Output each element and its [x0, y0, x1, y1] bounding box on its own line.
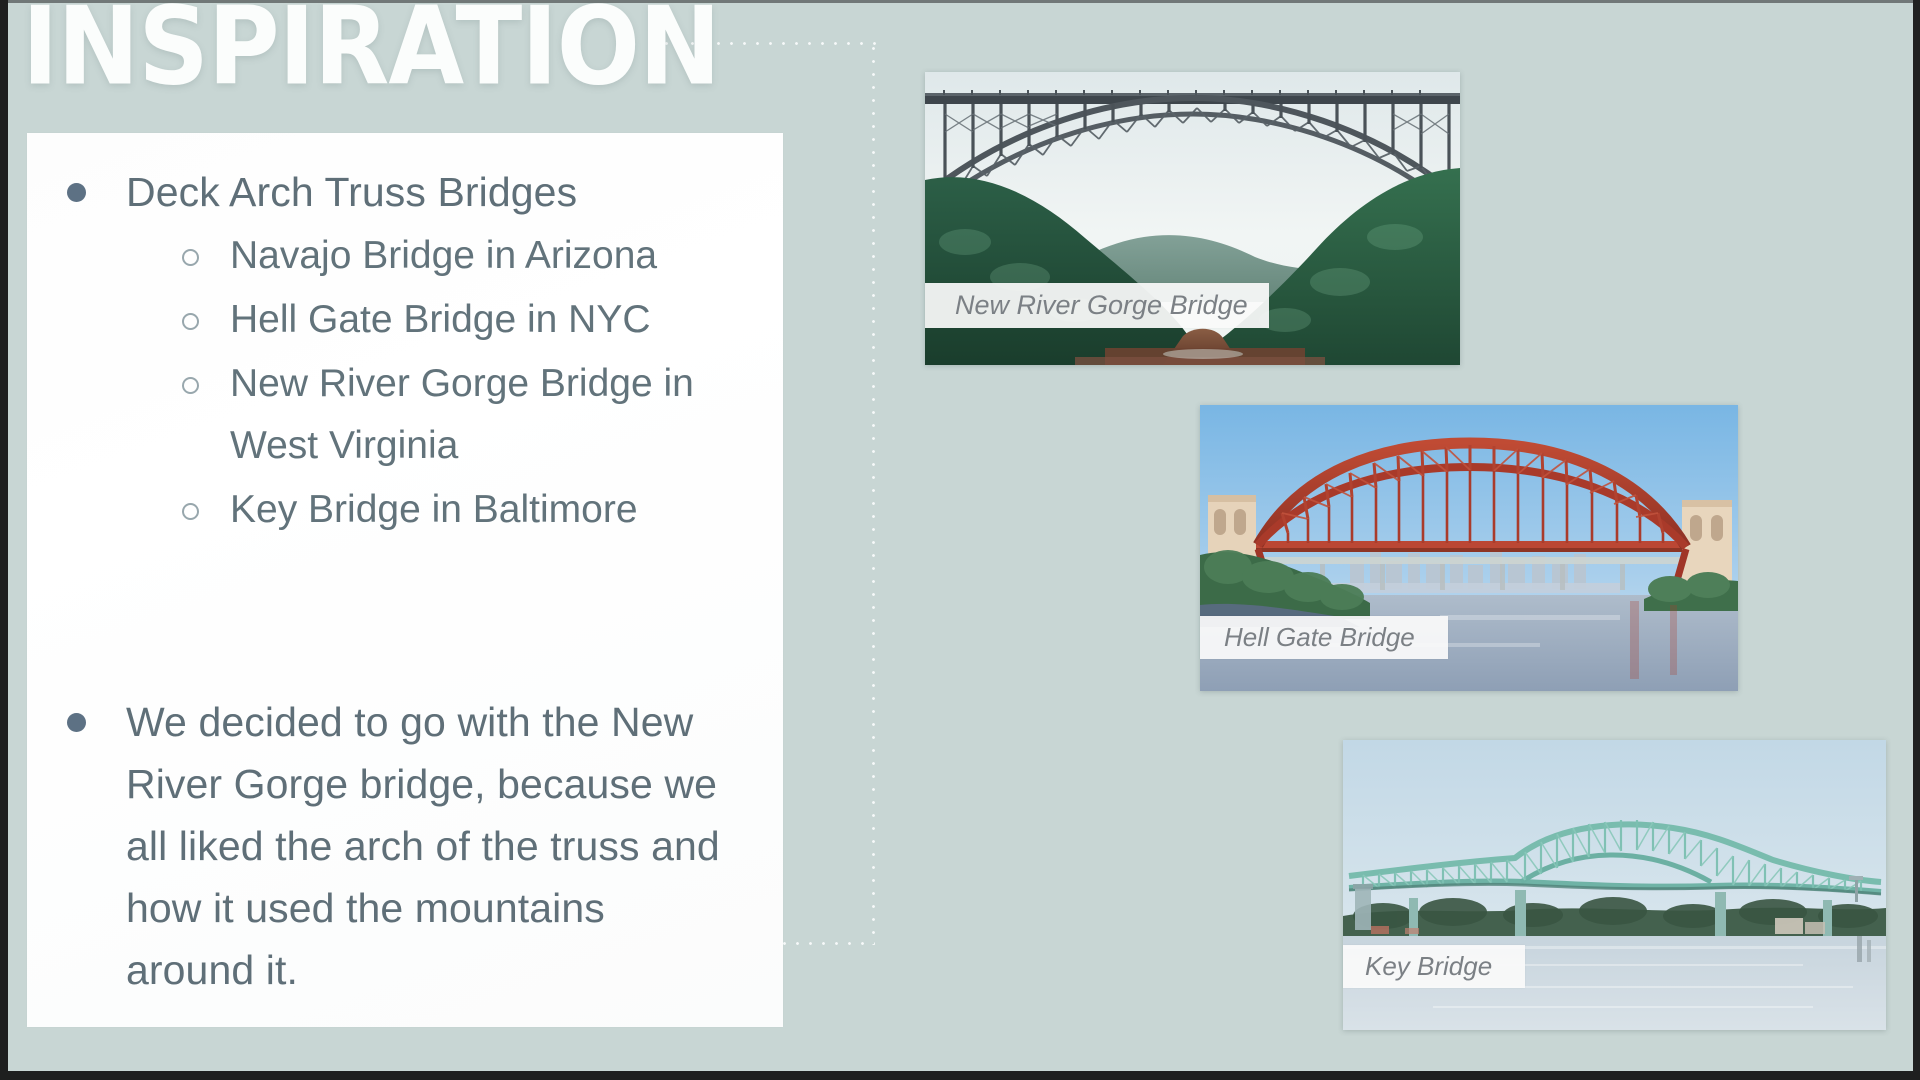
list-item: Navajo Bridge in Arizona: [27, 225, 783, 287]
bullet-dot-icon: [67, 713, 86, 732]
bullet-ring-icon: [182, 377, 199, 394]
list-item: New River Gorge Bridge in West Virginia: [27, 353, 783, 477]
list-item: We decided to go with the New River Gorg…: [27, 691, 783, 1001]
list-item: Hell Gate Bridge in NYC: [27, 289, 783, 351]
photo-caption: Hell Gate Bridge: [1200, 616, 1448, 659]
slide-frame-bottom: [0, 1071, 1920, 1080]
list-item-label: New River Gorge Bridge in West Virginia: [230, 353, 755, 477]
list-item: Deck Arch Truss Bridges: [27, 161, 783, 223]
list-item-label: Navajo Bridge in Arizona: [230, 225, 657, 287]
bullet-ring-icon: [182, 503, 199, 520]
photo-caption: Key Bridge: [1343, 945, 1525, 988]
conclusion-paragraph: We decided to go with the New River Gorg…: [126, 691, 738, 1001]
content-card: Deck Arch Truss Bridges Navajo Bridge in…: [27, 133, 783, 1027]
slide-frame-left: [0, 0, 8, 1080]
dotted-line-right: [872, 42, 875, 945]
list-item-label: Key Bridge in Baltimore: [230, 479, 638, 541]
bullet-ring-icon: [182, 249, 199, 266]
list-item-label: Hell Gate Bridge in NYC: [230, 289, 651, 351]
bullet-ring-icon: [182, 313, 199, 330]
list-item-label: Deck Arch Truss Bridges: [126, 161, 577, 223]
bullet-dot-icon: [67, 183, 86, 202]
slide-frame-top: [0, 0, 1920, 3]
photo-caption: New River Gorge Bridge: [925, 283, 1269, 328]
slide-title: INSPIRATION: [22, 0, 720, 109]
presentation-slide: INSPIRATION Deck Arch Truss Bridges Nava…: [0, 0, 1920, 1080]
list-item: Key Bridge in Baltimore: [27, 479, 783, 541]
slide-frame-right: [1913, 0, 1920, 1080]
bullet-list: Deck Arch Truss Bridges Navajo Bridge in…: [27, 133, 783, 1001]
